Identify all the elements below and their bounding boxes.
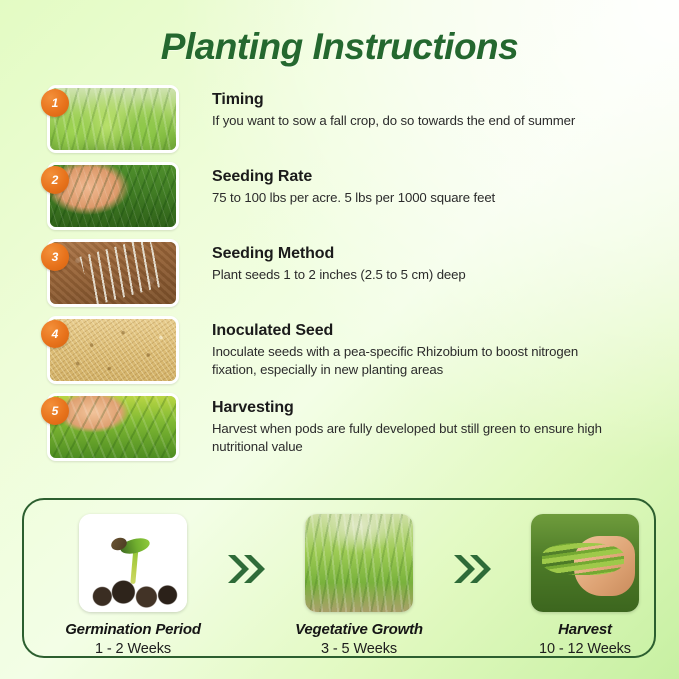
sprouting-seed-artwork — [79, 514, 187, 612]
step-number-badge: 4 — [41, 320, 69, 348]
step-item: 1 Timing If you want to sow a fall crop,… — [41, 82, 653, 156]
step-item: 5 Harvesting Harvest when pods are fully… — [41, 390, 653, 464]
pea-shoots-artwork — [50, 88, 176, 150]
pea-plants-growing-photo — [305, 514, 413, 612]
harvesting-artwork — [50, 396, 176, 458]
step-item: 3 Seeding Method Plant seeds 1 to 2 inch… — [41, 236, 653, 310]
stage-name: Germination Period — [44, 621, 222, 638]
step-text-block: Seeding Method Plant seeds 1 to 2 inches… — [179, 236, 653, 284]
stage-name: Harvest — [496, 621, 674, 638]
step-thumbnail-wrap: 1 — [41, 85, 179, 153]
rake-soil-artwork — [50, 242, 176, 304]
step-number-badge: 2 — [41, 166, 69, 194]
step-title: Harvesting — [212, 398, 653, 417]
step-thumbnail-wrap: 2 — [41, 162, 179, 230]
vegetative-growth-artwork — [305, 514, 413, 612]
stage-name: Vegetative Growth — [270, 621, 448, 638]
sprouting-seed-photo — [79, 514, 187, 612]
stage-duration: 1 - 2 Weeks — [44, 641, 222, 657]
stage-duration: 10 - 12 Weeks — [496, 641, 674, 657]
step-number-badge: 3 — [41, 243, 69, 271]
step-title: Seeding Method — [212, 244, 653, 263]
step-description: Plant seeds 1 to 2 inches (2.5 to 5 cm) … — [212, 266, 612, 284]
timeline-stage-vegetative-growth: Vegetative Growth 3 - 5 Weeks — [270, 514, 448, 657]
hand-sowing-artwork — [50, 165, 176, 227]
step-number-badge: 1 — [41, 89, 69, 117]
step-text-block: Seeding Rate 75 to 100 lbs per acre. 5 l… — [179, 159, 653, 207]
pea-pods-artwork — [531, 514, 639, 612]
stage-duration: 3 - 5 Weeks — [270, 641, 448, 657]
step-item: 4 Inoculated Seed Inoculate seeds with a… — [41, 313, 653, 387]
timeline-stage-germination: Germination Period 1 - 2 Weeks — [44, 514, 222, 657]
step-title: Inoculated Seed — [212, 321, 653, 340]
step-title: Timing — [212, 90, 653, 109]
growth-timeline-card: Germination Period 1 - 2 Weeks Vegetativ… — [22, 498, 656, 658]
step-text-block: Inoculated Seed Inoculate seeds with a p… — [179, 313, 653, 378]
double-chevron-right-icon — [222, 514, 270, 588]
step-thumbnail-wrap: 3 — [41, 239, 179, 307]
hand-holding-pea-pods-photo — [531, 514, 639, 612]
seed-pile-artwork — [50, 319, 176, 381]
step-text-block: Timing If you want to sow a fall crop, d… — [179, 82, 653, 130]
step-item: 2 Seeding Rate 75 to 100 lbs per acre. 5… — [41, 159, 653, 233]
planting-steps-list: 1 Timing If you want to sow a fall crop,… — [0, 82, 679, 464]
step-number-badge: 5 — [41, 397, 69, 425]
double-chevron-right-icon — [448, 514, 496, 588]
step-description: Inoculate seeds with a pea-specific Rhiz… — [212, 343, 612, 378]
step-thumbnail-wrap: 5 — [41, 393, 179, 461]
step-title: Seeding Rate — [212, 167, 653, 186]
page-title: Planting Instructions — [0, 0, 679, 65]
step-thumbnail-wrap: 4 — [41, 316, 179, 384]
step-text-block: Harvesting Harvest when pods are fully d… — [179, 390, 653, 455]
step-description: If you want to sow a fall crop, do so to… — [212, 112, 612, 130]
timeline-stage-harvest: Harvest 10 - 12 Weeks — [496, 514, 674, 657]
step-description: 75 to 100 lbs per acre. 5 lbs per 1000 s… — [212, 189, 612, 207]
step-description: Harvest when pods are fully developed bu… — [212, 420, 612, 455]
